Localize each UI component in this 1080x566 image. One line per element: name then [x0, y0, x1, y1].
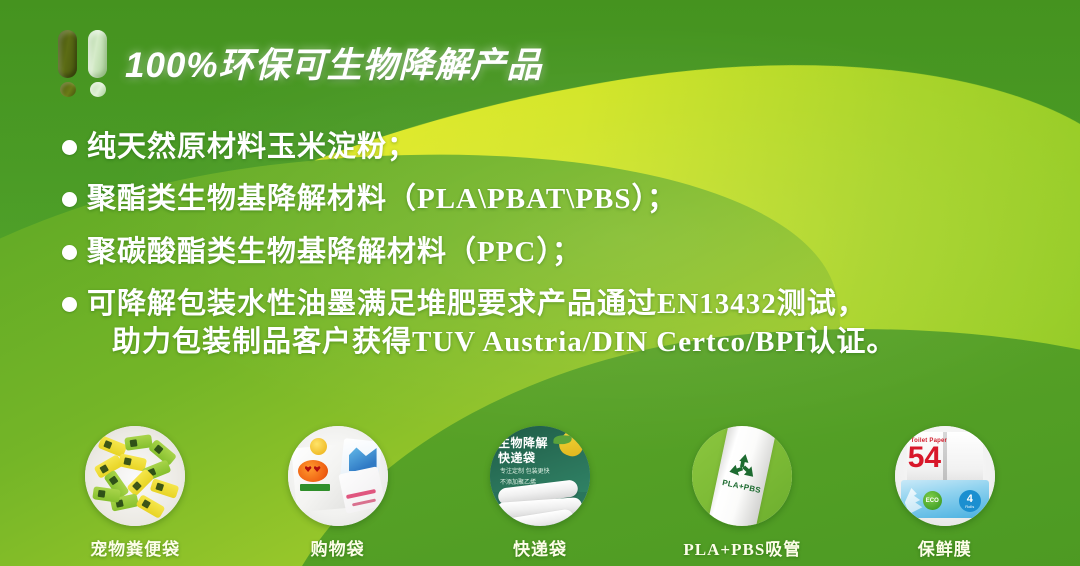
pet-waste-bag-rolls-thumb[interactable]	[85, 426, 185, 526]
bullet-text: 纯天然原材料玉米淀粉；	[87, 128, 417, 166]
cling-film-thumb[interactable]: Toilet Paper 54 ECO 4 Rolls	[895, 426, 995, 526]
bullet-text: 聚碳酸酯类生物基降解材料（PPC）；	[87, 233, 582, 271]
product-caption: PLA+PBS吸管	[683, 535, 801, 560]
eco-badge: ECO	[923, 491, 942, 510]
shopping-bags-thumb[interactable]	[288, 426, 388, 526]
shopping-bag-green-label	[300, 484, 330, 491]
bullet-dot-icon	[62, 192, 77, 207]
slide-root: 100%环保可生物降解产品 纯天然原材料玉米淀粉； 聚酯类生物基降解材料（PLA…	[0, 0, 1080, 566]
shopping-bags-image	[288, 426, 388, 526]
bullet-dot-icon	[62, 140, 77, 155]
corn-icon	[556, 426, 588, 459]
product-item[interactable]: 购物袋	[253, 426, 423, 560]
product-item[interactable]: PLA+PBS PLA+PBS吸管	[657, 426, 827, 560]
exclamation-light-stem	[88, 30, 107, 78]
exclamation-dark-dot	[60, 82, 76, 97]
cling-film-image: Toilet Paper 54 ECO 4 Rolls	[895, 426, 995, 526]
bullet-dot-icon	[62, 297, 77, 312]
slide-header: 100%环保可生物降解产品	[58, 28, 543, 97]
pla-pbs-straw-image: PLA+PBS	[692, 426, 792, 526]
feature-bullet-list: 纯天然原材料玉米淀粉； 聚酯类生物基降解材料（PLA\PBAT\PBS）； 聚碳…	[62, 128, 1022, 375]
bullet-text-continuation: 助力包装制品客户获得TUV Austria/DIN Certco/BPI认证。	[112, 323, 896, 361]
bullet-text: 聚酯类生物基降解材料（PLA\PBAT\PBS）；	[87, 180, 677, 218]
exclamation-dark-stem	[58, 30, 77, 78]
courier-bag-rolls	[496, 480, 588, 524]
product-item[interactable]: 宠物粪便袋	[50, 426, 220, 560]
shopping-bag-yellow-logo	[310, 438, 327, 455]
recycle-icon	[726, 449, 761, 483]
rolls-count-number: 4	[967, 494, 973, 505]
list-item: 纯天然原材料玉米淀粉；	[62, 128, 1022, 166]
list-item: 可降解包装水性油墨满足堆肥要求产品通过EN13432测试， 助力包装制品客户获得…	[62, 285, 1022, 362]
list-item: 聚酯类生物基降解材料（PLA\PBAT\PBS）；	[62, 180, 1022, 218]
pla-pbs-straw-thumb[interactable]: PLA+PBS	[692, 426, 792, 526]
rolls-count-badge: 4 Rolls	[959, 490, 981, 512]
exclamation-decor-group	[58, 28, 107, 97]
courier-box-bullet1: 专注定制 包装更快	[500, 466, 550, 475]
shopping-bag-fruit-graphic	[298, 460, 328, 482]
product-caption: 宠物粪便袋	[90, 535, 180, 560]
bullet-dot-icon	[62, 245, 77, 260]
courier-bag-image: 生物降解 快递袋 专注定制 包装更快 不添加聚乙烯	[490, 426, 590, 526]
shopping-bag-pink	[338, 466, 385, 513]
product-strip: 宠物粪便袋 购物袋	[0, 426, 1080, 560]
exclamation-light-icon	[88, 30, 107, 97]
bullet-text: 可降解包装水性油墨满足堆肥要求产品通过EN13432测试，	[87, 285, 896, 323]
product-caption: 购物袋	[311, 535, 365, 560]
rolls-count-unit: Rolls	[965, 505, 974, 509]
courier-box-line2: 快递袋	[498, 449, 536, 466]
page-title: 100%环保可生物降解产品	[125, 37, 543, 88]
exclamation-light-dot	[90, 82, 106, 97]
toilet-paper-number: 54	[908, 443, 941, 473]
product-caption: 保鲜膜	[918, 535, 972, 560]
pet-waste-bag-rolls-image	[85, 426, 185, 526]
product-caption: 快递袋	[513, 535, 567, 560]
product-item[interactable]: Toilet Paper 54 ECO 4 Rolls 保鲜膜	[860, 426, 1030, 560]
list-item: 聚碳酸酯类生物基降解材料（PPC）；	[62, 233, 1022, 271]
courier-bag-thumb[interactable]: 生物降解 快递袋 专注定制 包装更快 不添加聚乙烯	[490, 426, 590, 526]
product-item[interactable]: 生物降解 快递袋 专注定制 包装更快 不添加聚乙烯 快递袋	[455, 426, 625, 560]
exclamation-dark-icon	[58, 30, 77, 97]
